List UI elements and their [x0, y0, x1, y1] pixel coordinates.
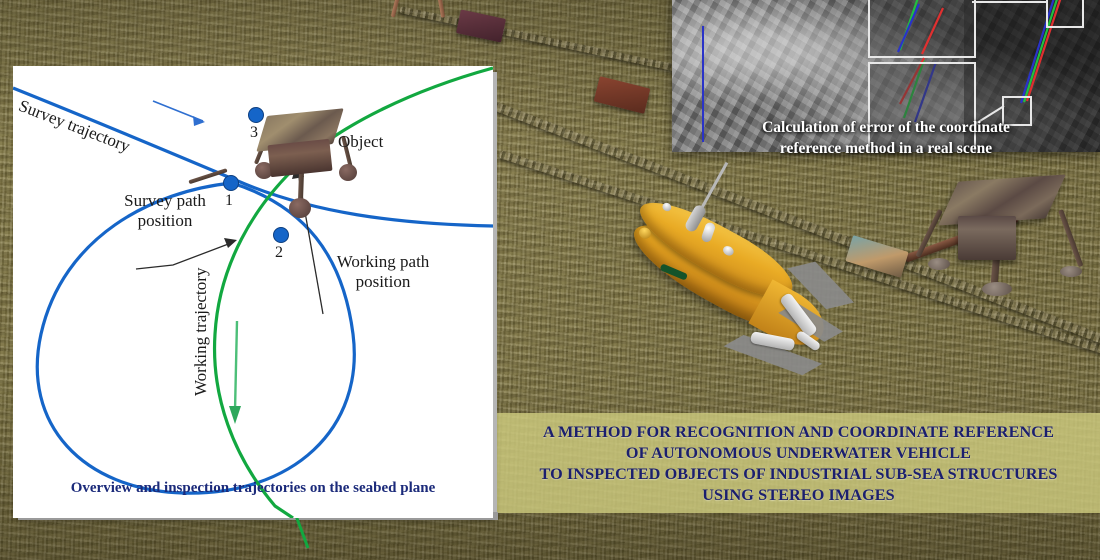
stereo-zoom-target-upper: [1046, 0, 1084, 28]
object-front-face: [267, 139, 332, 177]
title-line-1: A METHOD FOR RECOGNITION AND COORDINATE …: [543, 422, 1054, 443]
poster-title: A METHOD FOR RECOGNITION AND COORDINATE …: [497, 414, 1100, 514]
title-line-3: TO INSPECTED OBJECTS OF INDUSTRIAL SUB-S…: [539, 464, 1057, 485]
working-path-position-line-1: Working path: [321, 252, 445, 272]
object-foot: [339, 164, 357, 181]
waypoint-label-1: 1: [225, 192, 233, 210]
diagram-panel: Survey trajectory Working trajectory Obj…: [13, 66, 493, 518]
label-object: Object: [338, 132, 383, 152]
title-line-2: OF AUTONOMOUS UNDERWATER VEHICLE: [626, 443, 971, 464]
stereo-inset-caption: Calculation of error of the coordinate r…: [672, 118, 1100, 160]
stereo-caption-line-1: Calculation of error of the coordinate: [672, 118, 1100, 139]
waypoint-label-3: 3: [250, 124, 258, 142]
diagram-object-sprite: [255, 114, 365, 224]
module-foot: [982, 282, 1012, 296]
subsea-module-right: [950, 186, 1100, 306]
waypoint-marker-1: [224, 176, 239, 191]
module-leg: [1058, 209, 1083, 267]
working-path-position-line-2: position: [321, 272, 445, 292]
waypoint-marker-2: [274, 228, 289, 243]
leader-survey-arrowhead: [224, 238, 237, 248]
label-survey-path-position: Survey path position: [105, 191, 225, 230]
leader-survey-path: [136, 243, 231, 269]
survey-path-position-line-2: position: [105, 211, 225, 231]
working-direction-arrowhead: [229, 406, 241, 424]
diagram-caption: Overview and inspection trajectories on …: [13, 480, 493, 497]
module-foot: [1060, 266, 1082, 277]
module-front-face: [958, 216, 1016, 260]
label-working-trajectory: Working trajectory: [191, 268, 211, 396]
survey-path-position-line-1: Survey path: [105, 191, 225, 211]
survey-direction-arrowhead: [193, 116, 205, 126]
title-line-4: USING STEREO IMAGES: [702, 485, 895, 506]
subsea-module-far: [392, 0, 462, 24]
stereo-caption-line-2: reference method in a real scene: [672, 139, 1100, 160]
label-working-path-position: Working path position: [321, 252, 445, 291]
poster-stage: Calculation of error of the coordinate r…: [0, 0, 1100, 560]
module-leg: [436, 0, 445, 18]
working-direction-arrow: [235, 321, 237, 411]
module-leg: [391, 0, 402, 18]
object-foot: [289, 198, 311, 218]
module-foot: [928, 258, 950, 270]
waypoint-label-2: 2: [275, 244, 283, 262]
